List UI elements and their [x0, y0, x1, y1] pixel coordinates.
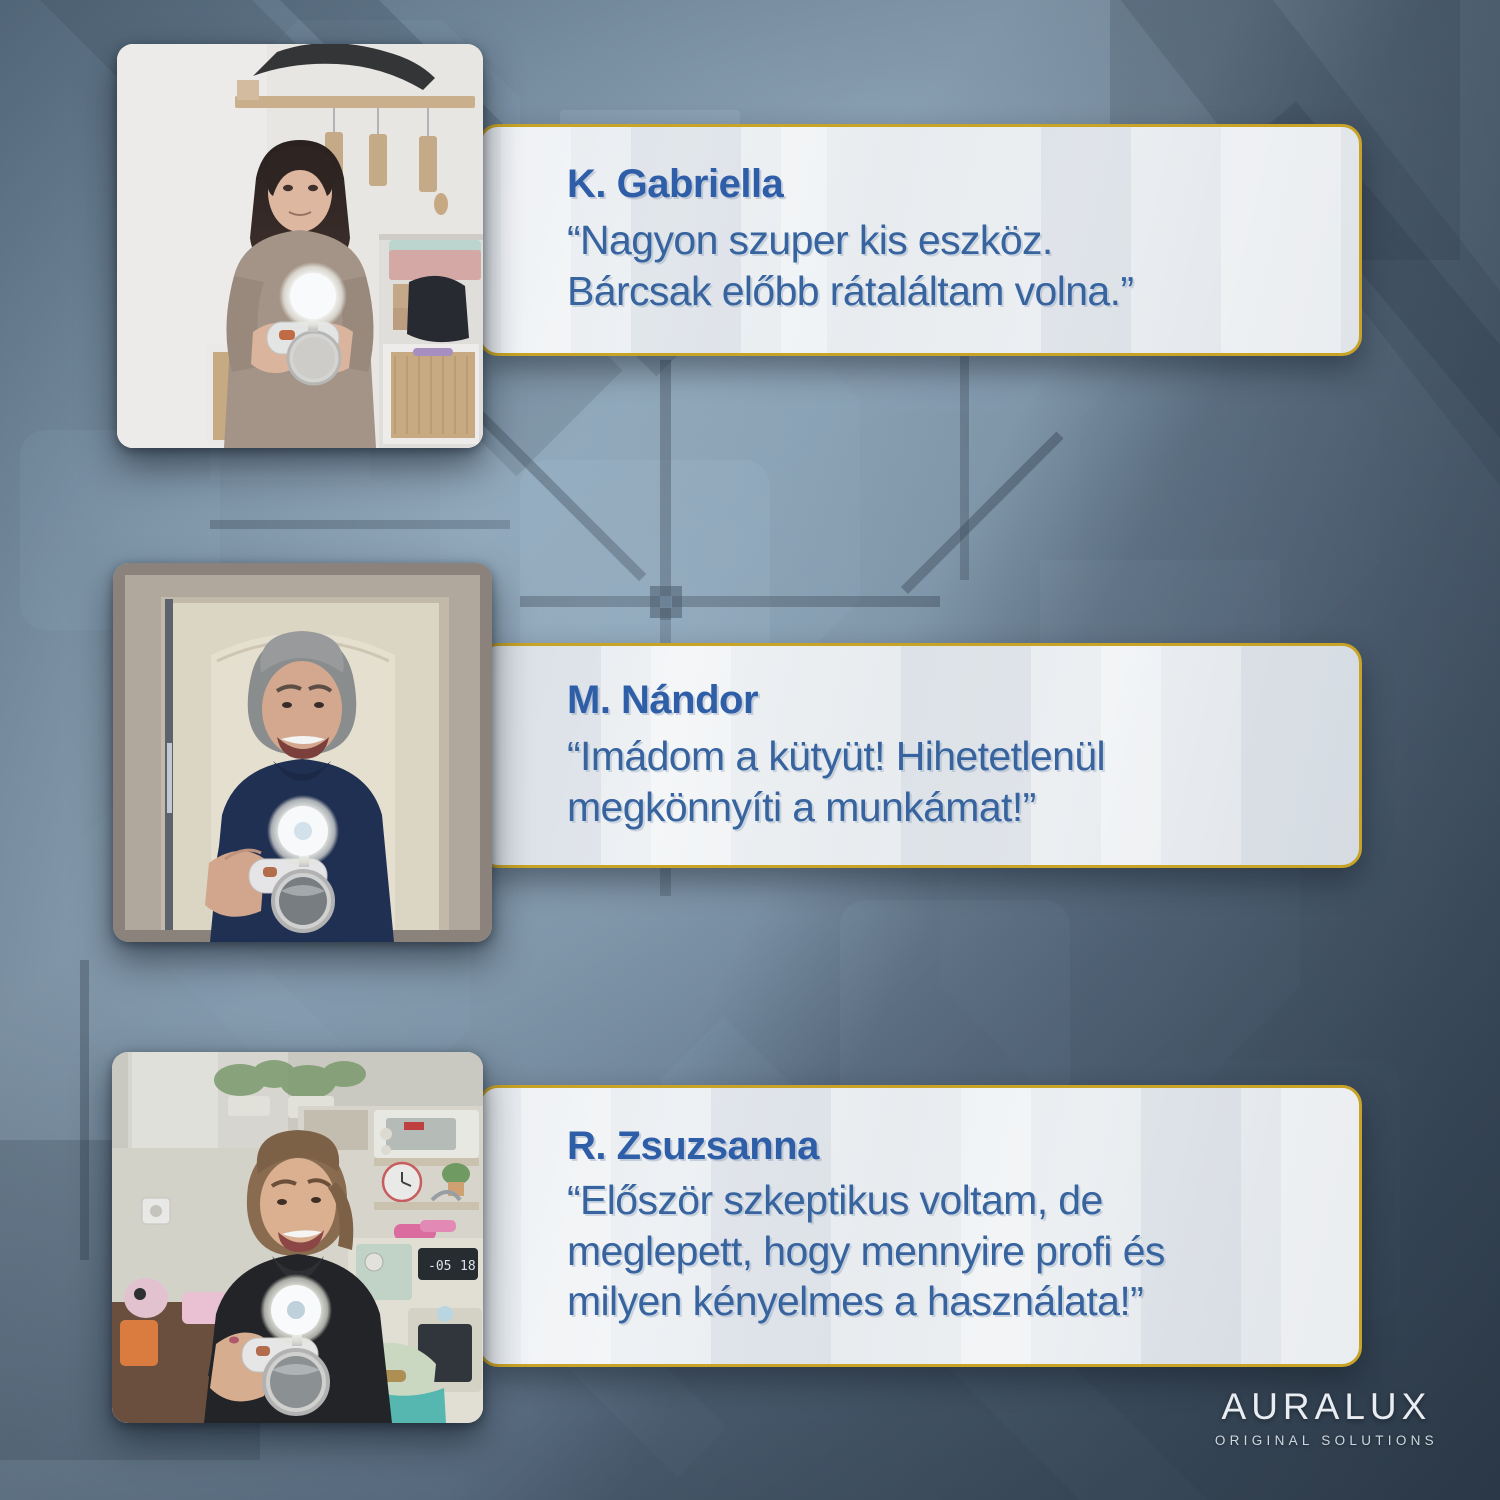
photo-illustration: -05 18 [112, 1052, 483, 1423]
testimonial-photo-1 [117, 44, 483, 448]
quote-line: “Nagyon szuper kis eszköz. [567, 215, 1359, 266]
quote-line: “Először szkeptikus voltam, de [567, 1175, 1359, 1226]
testimonial-card-2: M. Nándor “Imádom a kütyüt! Hihetetlenül… [478, 643, 1362, 868]
brand-tagline: ORIGINAL SOLUTIONS [1215, 1433, 1438, 1448]
testimonial-photo-3: -05 18 [112, 1052, 483, 1423]
quote-line: “Imádom a kütyüt! Hihetetlenül [567, 731, 1359, 782]
testimonial-photo-2 [113, 563, 492, 942]
photo-illustration [113, 563, 492, 942]
photo-illustration [117, 44, 483, 448]
testimonial-quote: “Először szkeptikus voltam, de meglepett… [567, 1175, 1359, 1327]
testimonial-quote: “Nagyon szuper kis eszköz. Bárcsak előbb… [567, 215, 1359, 317]
testimonial-name: R. Zsuzsanna [567, 1125, 1359, 1167]
brand-logo: AURALUX ORIGINAL SOLUTIONS [1215, 1386, 1438, 1448]
quote-line: milyen kényelmes a használata!” [567, 1276, 1359, 1327]
brand-name: AURALUX [1215, 1386, 1438, 1428]
quote-line: Bárcsak előbb rátaláltam volna.” [567, 266, 1359, 317]
testimonial-quote: “Imádom a kütyüt! Hihetetlenül megkönnyí… [567, 731, 1359, 833]
testimonial-name: K. Gabriella [567, 163, 1359, 205]
quote-line: meglepett, hogy mennyire profi és [567, 1226, 1359, 1277]
testimonial-card-1: K. Gabriella “Nagyon szuper kis eszköz. … [478, 124, 1362, 356]
quote-line: megkönnyíti a munkámat!” [567, 782, 1359, 833]
testimonial-card-3: R. Zsuzsanna “Először szkeptikus voltam,… [478, 1085, 1362, 1367]
testimonial-banner: K. Gabriella “Nagyon szuper kis eszköz. … [0, 0, 1500, 1500]
testimonial-name: M. Nándor [567, 679, 1359, 721]
